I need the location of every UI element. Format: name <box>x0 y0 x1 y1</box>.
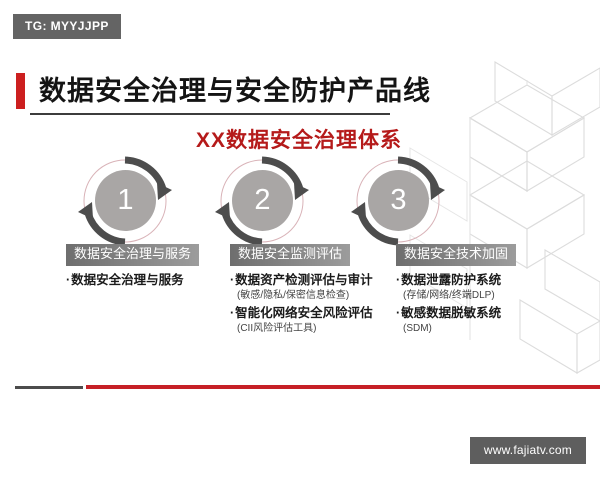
step-circle-1: 1 <box>73 150 177 252</box>
list-item-main: ·数据资产检测评估与审计 <box>230 272 402 289</box>
list-item: ·智能化网络安全风险评估 (CII风险评估工具) <box>230 305 402 335</box>
list-item-text: 数据资产检测评估与审计 <box>235 273 373 287</box>
slide-canvas: TG: MYYJJPP 数据安全治理与安全防护产品线 XX数据安全治理体系 1 <box>0 0 600 480</box>
bullet-icon: · <box>230 306 234 320</box>
list-item: ·数据资产检测评估与审计 (敏感/隐私/保密信息检查) <box>230 272 402 302</box>
list-item-main: ·数据泄露防护系统 <box>396 272 566 289</box>
column-header-2: 数据安全监测评估 <box>230 244 350 266</box>
list-item-sub: (存储/网络/终端DLP) <box>396 289 566 302</box>
page-title: 数据安全治理与安全防护产品线 <box>16 73 431 109</box>
list-item-text: 智能化网络安全风险评估 <box>235 306 373 320</box>
tg-badge: TG: MYYJJPP <box>13 14 121 39</box>
step-number-2: 2 <box>232 170 293 231</box>
bottom-divider <box>0 385 600 389</box>
list-item-sub: (SDM) <box>396 322 566 335</box>
page-subtitle: XX数据安全治理体系 <box>196 124 402 154</box>
step-column-2: 数据安全监测评估 ·数据资产检测评估与审计 (敏感/隐私/保密信息检查) ·智能… <box>230 244 402 338</box>
list-item-main: ·智能化网络安全风险评估 <box>230 305 402 322</box>
list-item-main: ·数据安全治理与服务 <box>66 272 226 289</box>
column-list-2: ·数据资产检测评估与审计 (敏感/隐私/保密信息检查) ·智能化网络安全风险评估… <box>230 272 402 335</box>
step-column-3: 数据安全技术加固 ·数据泄露防护系统 (存储/网络/终端DLP) ·敏感数据脱敏… <box>396 244 566 338</box>
bullet-icon: · <box>230 273 234 287</box>
bullet-icon: · <box>396 306 400 320</box>
list-item: ·数据安全治理与服务 <box>66 272 226 289</box>
step-number-3: 3 <box>368 170 429 231</box>
step-column-1: 数据安全治理与服务 ·数据安全治理与服务 <box>66 244 226 292</box>
divider-dark-segment <box>15 386 83 389</box>
column-list-3: ·数据泄露防护系统 (存储/网络/终端DLP) ·敏感数据脱敏系统 (SDM) <box>396 272 566 335</box>
bullet-icon: · <box>66 273 70 287</box>
title-underline <box>30 113 390 115</box>
title-text: 数据安全治理与安全防护产品线 <box>39 78 431 105</box>
list-item: ·数据泄露防护系统 (存储/网络/终端DLP) <box>396 272 566 302</box>
list-item-text: 数据泄露防护系统 <box>401 273 501 287</box>
divider-red-segment <box>86 385 600 389</box>
title-accent-bar <box>16 73 25 109</box>
list-item-sub: (CII风险评估工具) <box>230 322 402 335</box>
column-header-3: 数据安全技术加固 <box>396 244 516 266</box>
step-circle-2: 2 <box>210 150 314 252</box>
footer-watermark: www.fajiatv.com <box>470 437 586 464</box>
list-item: ·敏感数据脱敏系统 (SDM) <box>396 305 566 335</box>
list-item-main: ·敏感数据脱敏系统 <box>396 305 566 322</box>
list-item-text: 敏感数据脱敏系统 <box>401 306 501 320</box>
step-circle-3: 3 <box>346 150 450 252</box>
step-number-1: 1 <box>95 170 156 231</box>
column-header-1: 数据安全治理与服务 <box>66 244 199 266</box>
list-item-text: 数据安全治理与服务 <box>71 273 184 287</box>
column-list-1: ·数据安全治理与服务 <box>66 272 226 289</box>
list-item-sub: (敏感/隐私/保密信息检查) <box>230 289 402 302</box>
step-circles-row: 1 2 3 <box>0 150 600 252</box>
bullet-icon: · <box>396 273 400 287</box>
